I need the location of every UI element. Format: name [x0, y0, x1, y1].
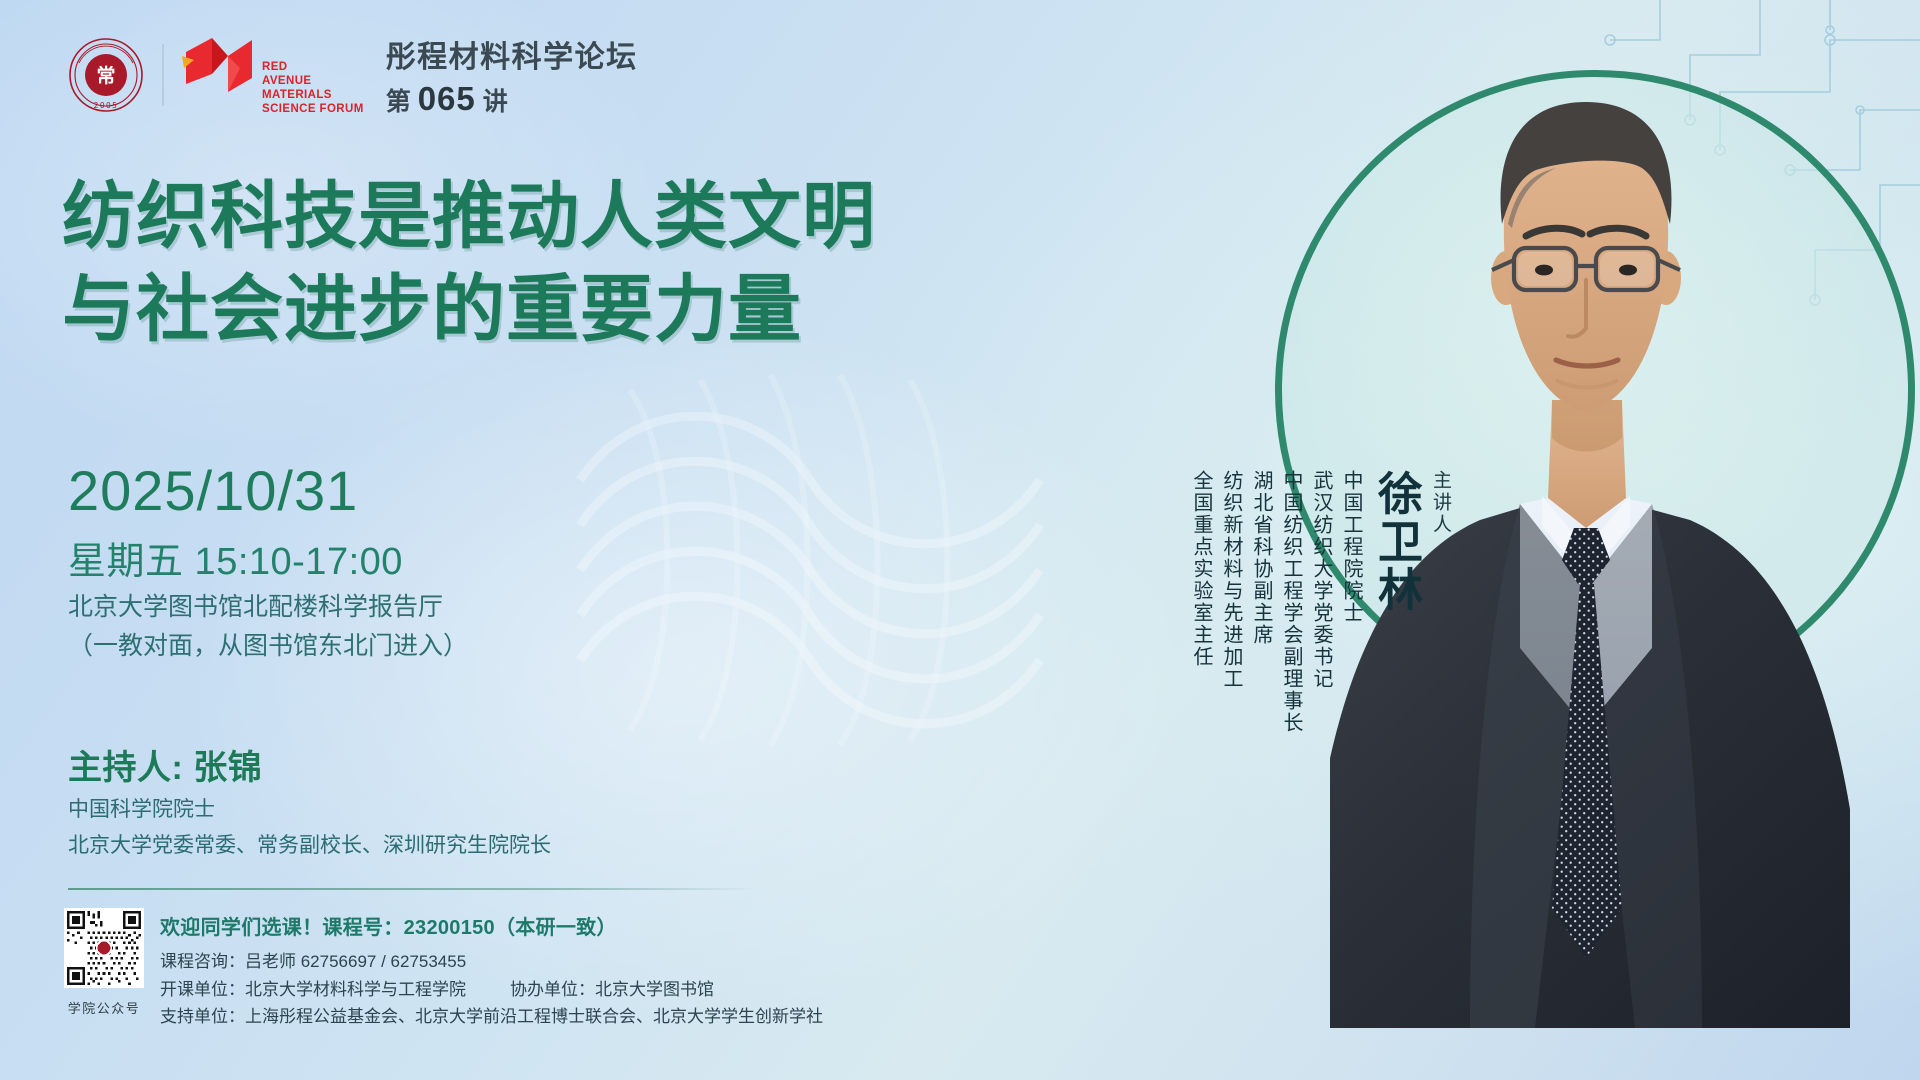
speaker-title-4: 湖北省科协副主席: [1246, 470, 1276, 646]
support-label: 支持单位：: [160, 1007, 245, 1026]
coorg-value: 北京大学图书馆: [595, 980, 714, 999]
red-avenue-logo: RED AVENUE MATERIALS SCIENCE FORUM: [182, 34, 364, 116]
supporter-row: 支持单位：上海彤程公益基金会、北京大学前沿工程博士联合会、北京大学学生创新学社: [160, 1003, 823, 1031]
venue-line-1: 北京大学图书馆北配楼科学报告厅: [68, 588, 468, 627]
speaker-title-5: 纺织新材料与先进加工: [1216, 470, 1246, 690]
course-consult-row: 课程咨询：吕老师 62756697 / 62753455: [160, 948, 823, 976]
qr-code-block[interactable]: 学院公众号: [62, 908, 146, 1031]
lecture-prefix: 第: [386, 82, 411, 118]
host-affiliation-line-1: 中国科学院院士: [68, 792, 551, 828]
host-affiliation: 中国科学院院士 北京大学党委常委、常务副校长、深圳研究生院院长: [68, 792, 551, 864]
support-value: 上海彤程公益基金会、北京大学前沿工程博士联合会、北京大学学生创新学社: [245, 1007, 823, 1026]
footer-divider: [68, 888, 758, 890]
host-affiliation-line-2: 北京大学党委常委、常务副校长、深圳研究生院院长: [68, 828, 551, 864]
organizer-row: 开课单位：北京大学材料科学与工程学院协办单位：北京大学图书馆: [160, 976, 823, 1004]
logo-divider: [162, 44, 164, 106]
red-avenue-mark-icon: [182, 34, 256, 96]
svg-text:2005: 2005: [94, 101, 119, 110]
red-avenue-wordmark: RED AVENUE MATERIALS SCIENCE FORUM: [262, 34, 364, 116]
lecture-suffix: 讲: [483, 82, 508, 118]
offering-label: 开课单位：: [160, 980, 245, 999]
speaker-label: 主讲人: [1427, 470, 1450, 536]
speaker-title-2: 武汉纺织大学党委书记: [1306, 470, 1336, 690]
ra-line-2: AVENUE: [262, 74, 364, 88]
ra-line-4: SCIENCE FORUM: [262, 102, 364, 116]
host-name: 主持人: 张锦: [68, 740, 262, 789]
footer-text-block: 欢迎同学们选课！课程号：23200150（本研一致） 课程咨询：吕老师 6275…: [160, 908, 823, 1031]
event-date: 2025/10/31: [68, 458, 358, 523]
pku-materials-school-seal-icon: 常 2005: [68, 37, 144, 113]
coorg-label: 协办单位：: [510, 980, 595, 999]
venue-line-2: （一教对面，从图书馆东北门进入）: [68, 627, 468, 666]
ra-line-3: MATERIALS: [262, 88, 364, 102]
lecture-number: 065: [418, 80, 476, 118]
speaker-title-6: 全国重点实验室主任: [1186, 470, 1216, 668]
consult-label: 课程咨询：: [160, 952, 245, 971]
consult-value: 吕老师 62756697 / 62753455: [245, 952, 466, 971]
title-line-1: 纺织科技是推动人类文明: [62, 176, 876, 257]
offering-value: 北京大学材料科学与工程学院: [245, 980, 466, 999]
speaker-info-vertical: 主讲人 徐卫林 中国工程院院士 武汉纺织大学党委书记 中国纺织工程学会副理事长 …: [1186, 470, 1450, 734]
forum-name: 彤程材料科学论坛: [386, 32, 638, 76]
qr-code-caption: 学院公众号: [62, 998, 146, 1017]
qr-code-icon[interactable]: [64, 908, 144, 988]
speaker-name: 徐卫林: [1366, 470, 1427, 614]
title-line-2: 与社会进步的重要力量: [62, 263, 876, 356]
footer: 学院公众号 欢迎同学们选课！课程号：23200150（本研一致） 课程咨询：吕老…: [62, 908, 823, 1031]
speaker-title-3: 中国纺织工程学会副理事长: [1276, 470, 1306, 734]
course-headline: 欢迎同学们选课！课程号：23200150（本研一致）: [160, 911, 823, 940]
event-weekday-time: 星期五 15:10-17:00: [68, 530, 403, 585]
lecture-number-block: 第 065 讲: [386, 80, 638, 118]
page-title: 纺织科技是推动人类文明 与社会进步的重要力量: [62, 170, 876, 357]
woven-fiber-decoration: [560, 330, 1080, 760]
ra-line-1: RED: [262, 60, 364, 74]
svg-text:常: 常: [96, 64, 115, 87]
speaker-title-1: 中国工程院院士: [1336, 470, 1366, 624]
forum-title-block: 彤程材料科学论坛 第 065 讲: [386, 32, 638, 118]
event-venue: 北京大学图书馆北配楼科学报告厅 （一教对面，从图书馆东北门进入）: [68, 588, 468, 666]
header-logos: 常 2005 RED AVENUE MATERIALS SCIENCE FORU…: [68, 32, 638, 118]
